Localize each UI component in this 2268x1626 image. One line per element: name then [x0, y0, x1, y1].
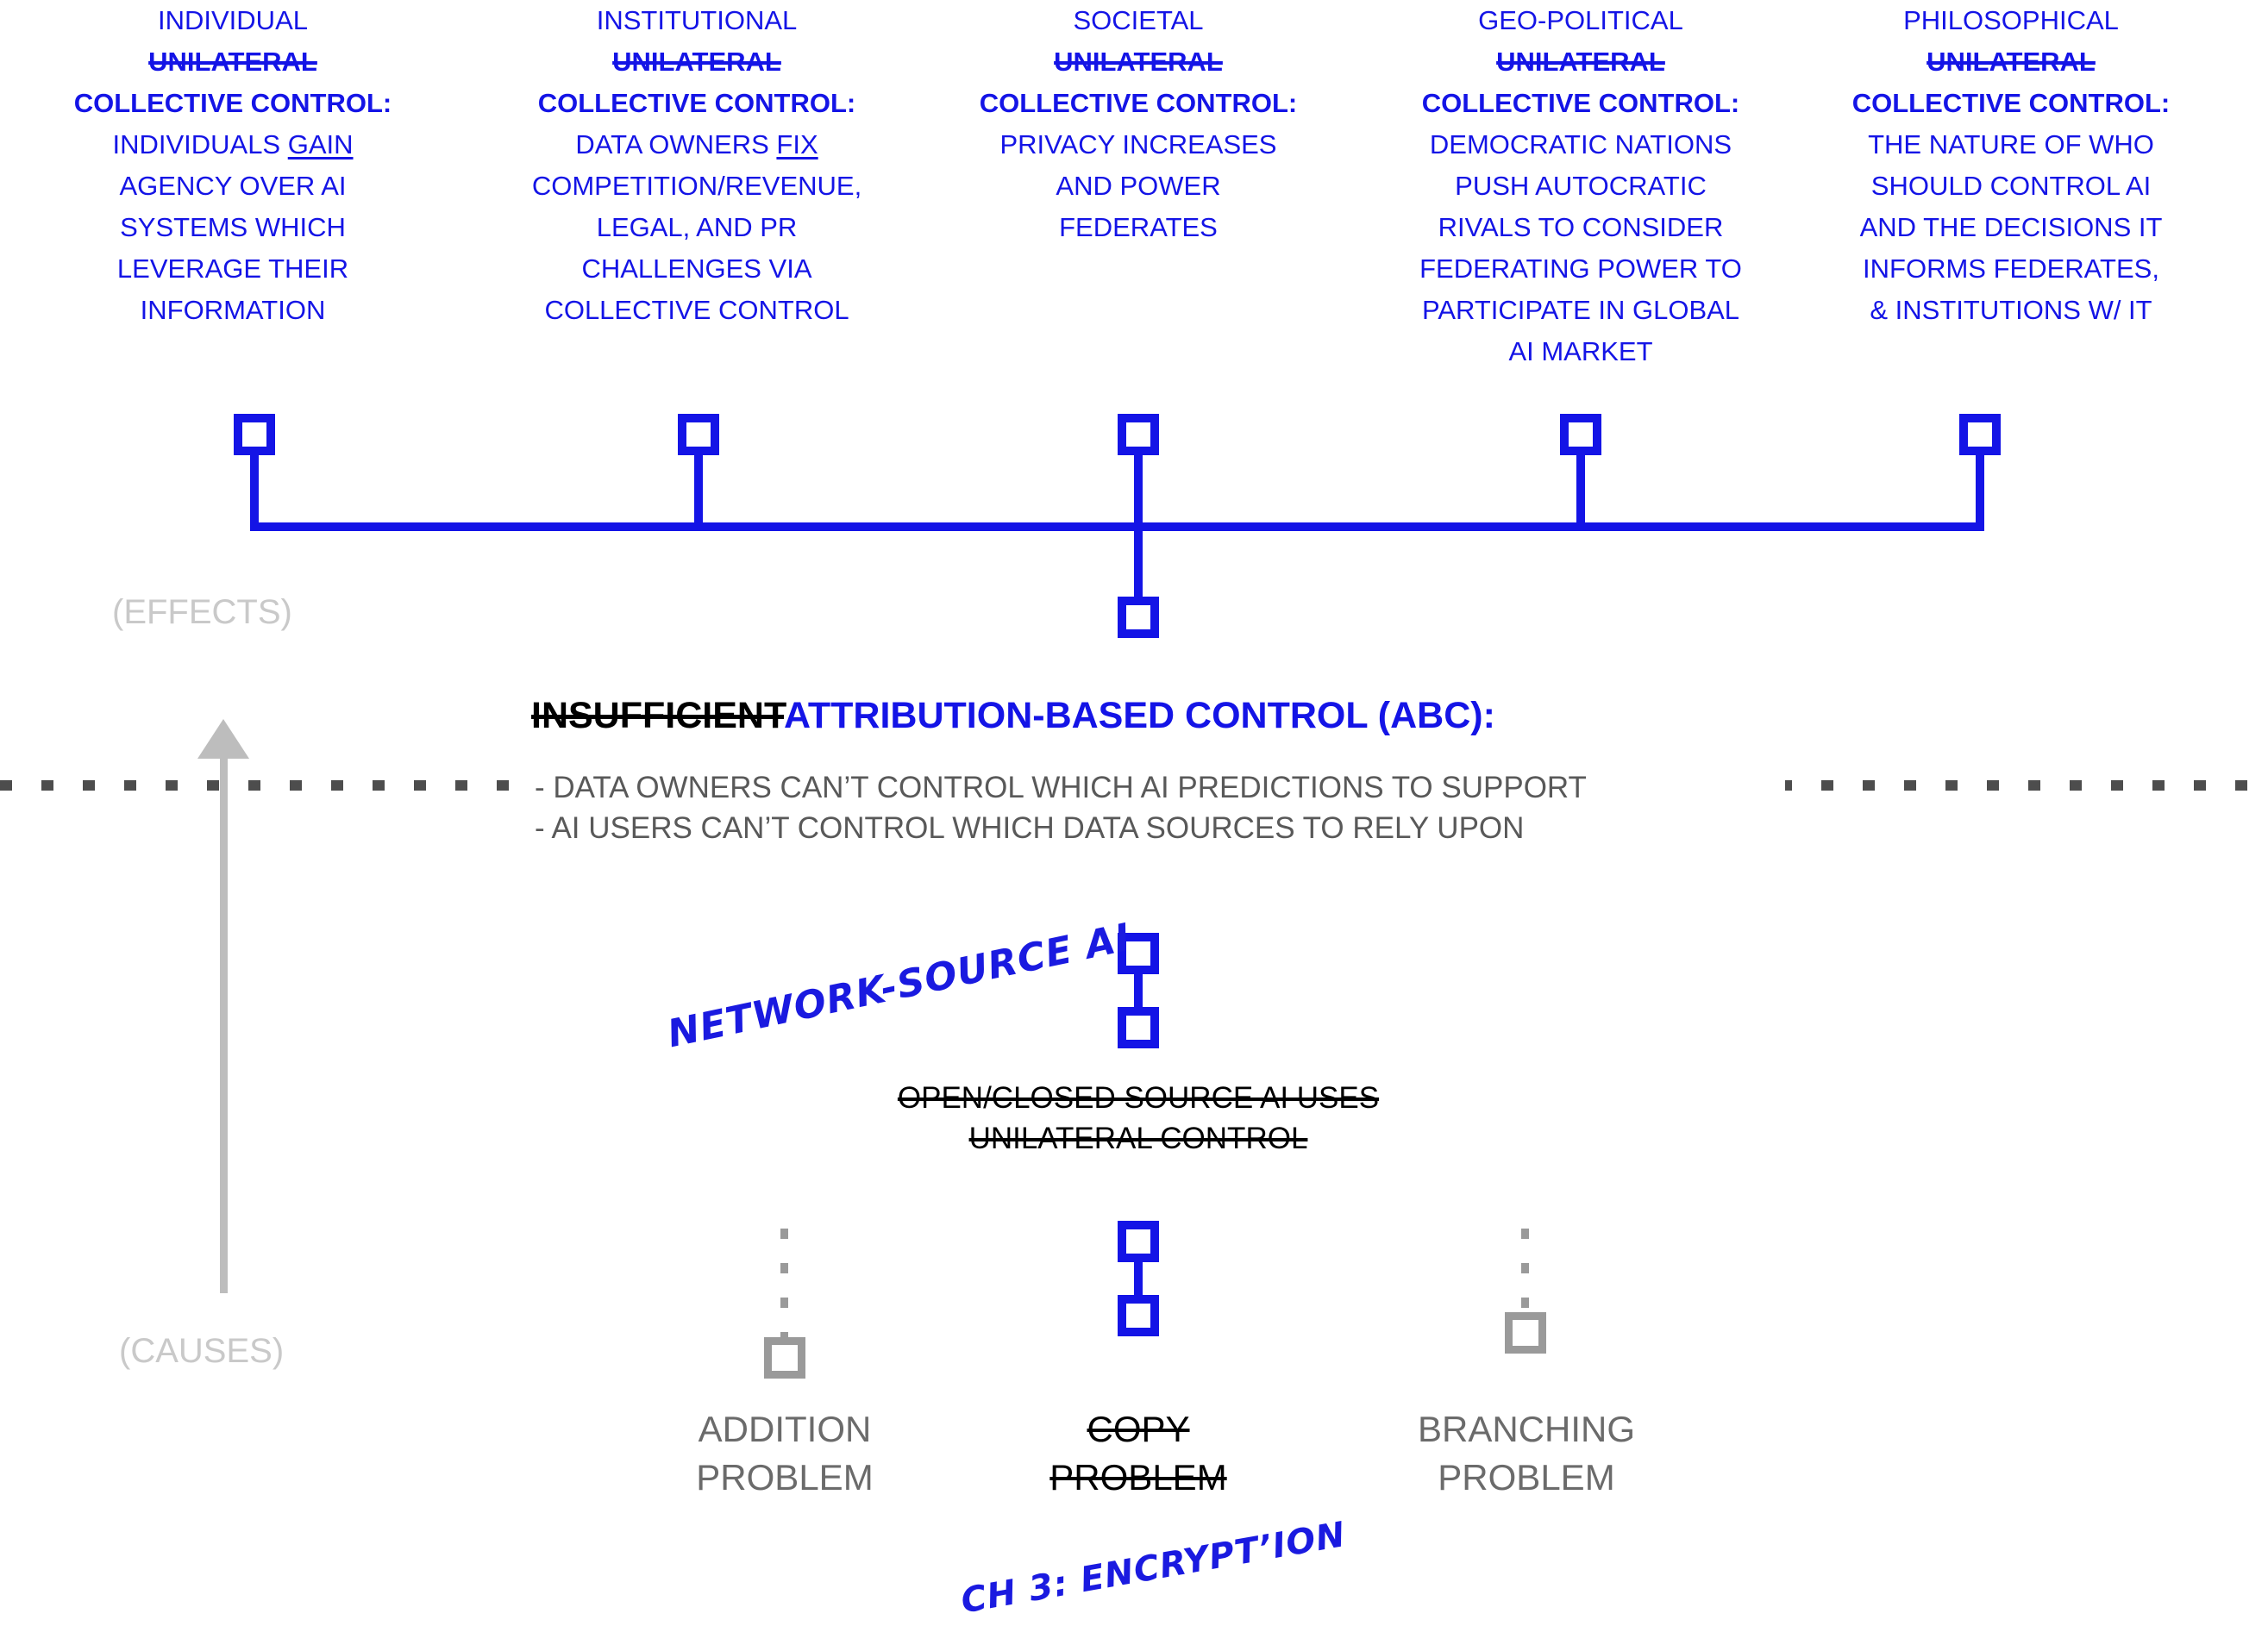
effect-body-line: SYSTEMS WHICH — [52, 207, 414, 248]
causality-arrow-head — [197, 719, 249, 759]
effect-body-line: FEDERATING POWER TO — [1378, 248, 1783, 290]
network-source-ai-annotation: NETWORK-SOURCE AI — [664, 916, 1135, 1057]
copy-problem-connector — [1134, 1259, 1143, 1298]
effect-struck-unilateral: UNILATERAL — [1804, 41, 2218, 83]
effect-body-line: INDIVIDUALS GAIN — [52, 124, 414, 166]
copy-problem-node-top — [1118, 1221, 1159, 1262]
open-closed-source-note-line: OPEN/CLOSED SOURCE AI USES — [880, 1078, 1397, 1118]
effect-body-line: AGENCY OVER AI — [52, 166, 414, 207]
chapter-annotation: CH 3: ENCRYPT’ION — [958, 1515, 1349, 1622]
effect-body-line: COMPETITION/REVENUE, — [498, 166, 895, 207]
effect-body-line: DEMOCRATIC NATIONS — [1378, 124, 1783, 166]
effect-node-square-geopolitical — [1560, 414, 1601, 455]
effect-column-institutional: INSTITUTIONAL UNILATERAL COLLECTIVE CONT… — [498, 0, 895, 331]
addition-problem-dotted-stem — [780, 1229, 788, 1337]
effect-struck-unilateral: UNILATERAL — [940, 41, 1337, 83]
effect-body-line: INFORMATION — [52, 290, 414, 331]
abc-title-struck: INSUFFICIENT — [531, 695, 784, 736]
abc-title: INSUFFICIENTATTRIBUTION-BASED CONTROL (A… — [531, 695, 1495, 737]
tree-stem-individual — [250, 452, 259, 531]
copy-problem-label-line: PROBLEM — [1000, 1454, 1276, 1502]
effect-body-line: RIVALS TO CONSIDER — [1378, 207, 1783, 248]
network-source-node-bottom — [1118, 1007, 1159, 1048]
open-closed-source-note-line: UNILATERAL CONTROL — [880, 1118, 1397, 1159]
effect-body-line: FEDERATES — [940, 207, 1337, 248]
causes-axis-label: (CAUSES) — [119, 1332, 284, 1371]
effect-node-square-societal — [1118, 414, 1159, 455]
effect-kind-label: INDIVIDUAL — [52, 0, 414, 41]
effect-body-line: COLLECTIVE CONTROL — [498, 290, 895, 331]
effect-body-line: SHOULD CONTROL AI — [1804, 166, 2218, 207]
effect-struck-unilateral: UNILATERAL — [52, 41, 414, 83]
effect-heading: COLLECTIVE CONTROL: — [1804, 83, 2218, 124]
effect-body-line: LEGAL, AND PR — [498, 207, 895, 248]
addition-problem-label-line: ADDITION — [647, 1405, 923, 1454]
effect-kind-label: GEO-POLITICAL — [1378, 0, 1783, 41]
effect-node-square-institutional — [678, 414, 719, 455]
effect-body-line: INFORMS FEDERATES, — [1804, 248, 2218, 290]
copy-problem-node-bottom — [1118, 1295, 1159, 1336]
effect-body-line: CHALLENGES VIA — [498, 248, 895, 290]
effect-heading: COLLECTIVE CONTROL: — [1378, 83, 1783, 124]
branching-problem-label-line: BRANCHING — [1388, 1405, 1664, 1454]
copy-problem-label: COPY PROBLEM — [1000, 1405, 1276, 1502]
effects-root-square — [1118, 597, 1159, 638]
addition-problem-label: ADDITION PROBLEM — [647, 1405, 923, 1502]
effect-body-line: THE NATURE OF WHO — [1804, 124, 2218, 166]
causality-arrow-shaft — [220, 759, 228, 1293]
tree-trunk — [1134, 522, 1143, 602]
effect-column-geopolitical: GEO-POLITICAL UNILATERAL COLLECTIVE CONT… — [1378, 0, 1783, 372]
branching-problem-label-line: PROBLEM — [1388, 1454, 1664, 1502]
effect-kind-label: PHILOSOPHICAL — [1804, 0, 2218, 41]
effect-heading: COLLECTIVE CONTROL: — [940, 83, 1337, 124]
effect-heading: COLLECTIVE CONTROL: — [498, 83, 895, 124]
effect-struck-unilateral: UNILATERAL — [1378, 41, 1783, 83]
effect-body-line: DATA OWNERS FIX — [498, 124, 895, 166]
abc-bullet-line: - DATA OWNERS CAN’T CONTROL WHICH AI PRE… — [535, 767, 1587, 808]
effect-body-line: LEVERAGE THEIR — [52, 248, 414, 290]
effect-body-line: AND POWER — [940, 166, 1337, 207]
branching-problem-node — [1505, 1312, 1546, 1354]
effect-column-societal: SOCIETAL UNILATERAL COLLECTIVE CONTROL: … — [940, 0, 1337, 248]
effect-body-line: PARTICIPATE IN GLOBAL — [1378, 290, 1783, 331]
addition-problem-label-line: PROBLEM — [647, 1454, 923, 1502]
addition-problem-node — [764, 1337, 805, 1379]
effect-body-line: PUSH AUTOCRATIC — [1378, 166, 1783, 207]
effects-axis-label: (EFFECTS) — [112, 593, 292, 632]
abc-bullet-line: - AI USERS CAN’T CONTROL WHICH DATA SOUR… — [535, 808, 1587, 848]
effect-node-square-individual — [234, 414, 275, 455]
effect-heading: COLLECTIVE CONTROL: — [52, 83, 414, 124]
effect-kind-label: SOCIETAL — [940, 0, 1337, 41]
effect-column-philosophical: PHILOSOPHICAL UNILATERAL COLLECTIVE CONT… — [1804, 0, 2218, 331]
effect-struck-unilateral: UNILATERAL — [498, 41, 895, 83]
branching-problem-label: BRANCHING PROBLEM — [1388, 1405, 1664, 1502]
abc-title-main: ATTRIBUTION-BASED CONTROL (ABC): — [784, 695, 1495, 736]
effect-body-line: AND THE DECISIONS IT — [1804, 207, 2218, 248]
effect-kind-label: INSTITUTIONAL — [498, 0, 895, 41]
network-source-connector — [1134, 971, 1143, 1010]
tree-horizontal-bus — [250, 522, 1984, 531]
tree-stem-geopolitical — [1576, 452, 1585, 531]
effect-node-square-philosophical — [1959, 414, 2001, 455]
effect-body-line: PRIVACY INCREASES — [940, 124, 1337, 166]
open-closed-source-note: OPEN/CLOSED SOURCE AI USES UNILATERAL CO… — [880, 1078, 1397, 1159]
abc-bullets: - DATA OWNERS CAN’T CONTROL WHICH AI PRE… — [535, 767, 1587, 848]
tree-stem-societal — [1134, 452, 1143, 531]
tree-stem-institutional — [694, 452, 703, 531]
effect-body-line: & INSTITUTIONS W/ IT — [1804, 290, 2218, 331]
tree-stem-philosophical — [1976, 452, 1984, 531]
effect-column-individual: INDIVIDUAL UNILATERAL COLLECTIVE CONTROL… — [52, 0, 414, 331]
effect-body-line: AI MARKET — [1378, 331, 1783, 372]
copy-problem-label-line: COPY — [1000, 1405, 1276, 1454]
